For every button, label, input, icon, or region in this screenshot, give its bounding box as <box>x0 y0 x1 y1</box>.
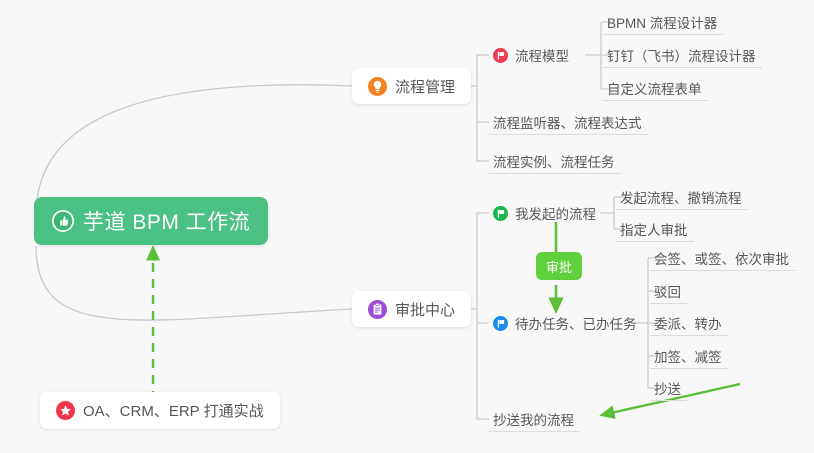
node-todo-done-tasks[interactable]: 待办任务、已办任务 <box>489 310 643 336</box>
node-assignee-approval[interactable]: 指定人审批 <box>616 216 694 242</box>
node-custom-process-form[interactable]: 自定义流程表单 <box>603 75 708 101</box>
star-icon <box>56 401 75 420</box>
connector-root-to-approval-center <box>36 246 352 320</box>
node-label: 我发起的流程 <box>515 203 596 223</box>
node-label: 加签、减签 <box>654 346 722 366</box>
node-label: 流程监听器、流程表达式 <box>493 112 642 132</box>
flag-icon <box>493 206 508 221</box>
node-label: 流程模型 <box>515 45 569 65</box>
node-label: 自定义流程表单 <box>607 78 702 98</box>
node-process-model[interactable]: 流程模型 <box>489 42 575 68</box>
branch-approval-center[interactable]: 审批中心 <box>352 291 471 327</box>
node-countersign-orsign-sequential[interactable]: 会签、或签、依次审批 <box>650 245 795 271</box>
node-process-listener-expression[interactable]: 流程监听器、流程表达式 <box>489 109 648 135</box>
node-my-initiated-process[interactable]: 我发起的流程 <box>489 200 602 226</box>
node-start-cancel-process[interactable]: 发起流程、撤销流程 <box>616 184 748 210</box>
node-bpmn-designer[interactable]: BPMN 流程设计器 <box>603 9 723 35</box>
root-node[interactable]: 芋道 BPM 工作流 <box>34 197 268 245</box>
branch-label: 审批中心 <box>395 299 455 320</box>
thumbs-up-icon <box>52 210 74 232</box>
node-dingtalk-feishu-designer[interactable]: 钉钉（飞书）流程设计器 <box>603 42 762 68</box>
node-label: BPMN 流程设计器 <box>607 12 717 32</box>
flag-icon <box>493 316 508 331</box>
node-delegate-transfer[interactable]: 委派、转办 <box>650 310 728 336</box>
flag-icon <box>493 48 508 63</box>
node-label: 抄送我的流程 <box>493 409 574 429</box>
branch-label: 流程管理 <box>395 76 455 97</box>
node-label: 会签、或签、依次审批 <box>654 248 789 268</box>
lightbulb-icon <box>368 77 387 96</box>
node-label: 委派、转办 <box>654 313 722 333</box>
node-label: 指定人审批 <box>620 219 688 239</box>
node-reject[interactable]: 驳回 <box>650 278 687 304</box>
node-label: 流程实例、流程任务 <box>493 151 615 171</box>
node-label: 钉钉（飞书）流程设计器 <box>607 45 756 65</box>
mindmap-canvas: 芋道 BPM 工作流 流程管理 流程模型 BPMN 流程设计器 钉钉（飞书 <box>0 0 814 453</box>
node-process-instance-task[interactable]: 流程实例、流程任务 <box>489 148 621 174</box>
node-label: 抄送 <box>654 378 681 398</box>
node-cc-to-me-process[interactable]: 抄送我的流程 <box>489 406 580 432</box>
node-add-remove-sign[interactable]: 加签、减签 <box>650 343 728 369</box>
node-label: 驳回 <box>654 281 681 301</box>
node-label: 发起流程、撤销流程 <box>620 187 742 207</box>
clipboard-icon <box>368 300 387 319</box>
tag-approval[interactable]: 审批 <box>536 252 582 280</box>
node-label: 待办任务、已办任务 <box>515 313 637 333</box>
footnote-node[interactable]: OA、CRM、ERP 打通实战 <box>40 392 280 429</box>
connector-root-to-process-management <box>36 85 352 215</box>
root-label: 芋道 BPM 工作流 <box>83 206 250 236</box>
footnote-label: OA、CRM、ERP 打通实战 <box>83 400 264 421</box>
node-carbon-copy[interactable]: 抄送 <box>650 375 687 401</box>
tag-label: 审批 <box>546 257 572 276</box>
branch-process-management[interactable]: 流程管理 <box>352 68 471 104</box>
